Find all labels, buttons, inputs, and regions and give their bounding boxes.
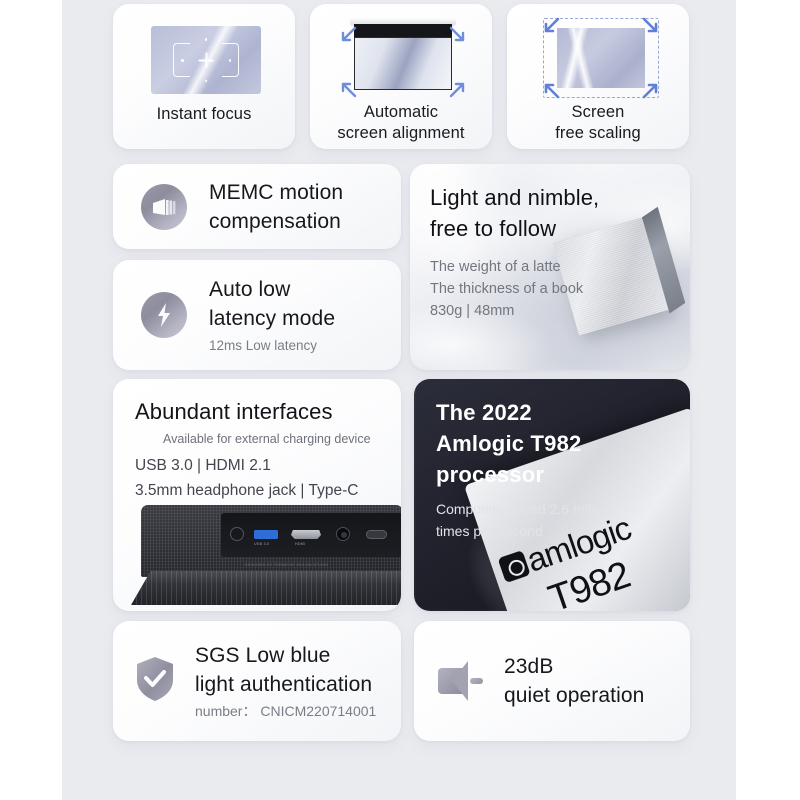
light-nimble-text: Light and nimble, free to follow The wei… <box>410 164 690 322</box>
hdmi-port <box>291 530 321 539</box>
interfaces-spec-line2: 3.5mm headphone jack | Type-C <box>135 478 401 503</box>
tile-caption-line1: Screen <box>507 102 689 123</box>
latency-title-line1: Auto low <box>209 275 335 304</box>
sgs-title-line2: light authentication <box>195 670 376 699</box>
memc-card[interactable]: MEMC motion compensation <box>113 164 401 249</box>
processor-title-line1: The 2022 <box>436 397 690 428</box>
feature-tile-screen-alignment[interactable]: Automatic screen alignment <box>310 4 492 149</box>
processor-subtitle-line1: Computing speed 2.6 trillion <box>436 499 690 520</box>
memc-text: MEMC motion compensation <box>209 178 343 236</box>
product-feature-page: Instant focus Automatic screen alignment… <box>0 0 800 800</box>
power-port <box>230 527 244 541</box>
memc-title-line1: MEMC motion <box>209 178 343 207</box>
shield-check-icon <box>135 656 175 707</box>
feature-tile-free-scaling[interactable]: Screen free scaling <box>507 4 689 149</box>
interfaces-subtitle: Available for external charging device <box>163 429 401 449</box>
film-strip-icon <box>141 184 187 230</box>
nimble-detail-line3: 830g | 48mm <box>430 300 690 322</box>
processor-text: The 2022 Amlogic T982 processor Computin… <box>414 379 690 542</box>
noise-title-line1: 23dB <box>504 652 644 681</box>
interfaces-spec-line1: USB 3.0 | HDMI 2.1 <box>135 453 401 478</box>
nimble-detail-line2: The thickness of a book <box>430 278 690 300</box>
latency-title-line2: latency mode <box>209 304 335 333</box>
processor-card[interactable]: amlogic T982 The 2022 Amlogic T982 proce… <box>414 379 690 611</box>
tile-caption-line2: free scaling <box>507 123 689 144</box>
noise-title-line2: quiet operation <box>504 681 644 710</box>
quiet-operation-card[interactable]: 23dB quiet operation <box>414 621 690 741</box>
nimble-title-line1: Light and nimble, <box>430 182 690 213</box>
headphone-jack-port <box>336 527 350 541</box>
tile-caption-line2: screen alignment <box>310 123 492 144</box>
low-latency-text: Auto low latency mode 12ms Low latency <box>209 275 335 355</box>
processor-title-line3: processor <box>436 459 690 490</box>
focus-frame-icon <box>151 26 261 94</box>
device-ports-photo: USB 3.0 HDMI DESIGNED BY FORMOVIE DESIGN… <box>131 505 401 611</box>
usb-port-label: USB 3.0 <box>254 542 269 546</box>
interfaces-title: Abundant interfaces <box>135 397 401 427</box>
low-latency-card[interactable]: Auto low latency mode 12ms Low latency <box>113 260 401 370</box>
feature-tile-instant-focus[interactable]: Instant focus <box>113 4 295 149</box>
nimble-detail-line1: The weight of a latte <box>430 256 690 278</box>
latency-subtitle: 12ms Low latency <box>209 336 335 355</box>
processor-subtitle-line2: times per second <box>436 521 690 542</box>
free-scaling-icon <box>543 18 659 98</box>
sgs-certification-card[interactable]: SGS Low blue light authentication number… <box>113 621 401 741</box>
type-c-port <box>366 530 387 539</box>
projection-screen-icon <box>344 16 462 100</box>
io-port-panel: USB 3.0 HDMI <box>221 513 401 557</box>
sgs-certificate-number: number： CNICM220714001 <box>195 702 376 721</box>
usb-port <box>254 530 278 539</box>
quiet-text: 23dB quiet operation <box>504 652 644 710</box>
speaker-mute-icon <box>438 661 482 701</box>
abundant-interfaces-card[interactable]: Abundant interfaces Available for extern… <box>113 379 401 611</box>
interfaces-text: Abundant interfaces Available for extern… <box>113 379 401 503</box>
light-nimble-card[interactable]: Light and nimble, free to follow The wei… <box>410 164 690 370</box>
processor-title-line2: Amlogic T982 <box>436 428 690 459</box>
device-stamp-text: DESIGNED BY FORMOVIE DESIGN STUDIO <box>245 563 328 567</box>
lightning-bolt-icon <box>141 292 187 338</box>
sgs-title-line1: SGS Low blue <box>195 641 376 670</box>
memc-title-line2: compensation <box>209 207 343 236</box>
hdmi-port-label: HDMI <box>295 542 305 546</box>
nimble-title-line2: free to follow <box>430 213 690 244</box>
sgs-text: SGS Low blue light authentication number… <box>195 641 376 721</box>
tile-caption-line1: Automatic <box>310 102 492 123</box>
tile-caption-line1: Instant focus <box>113 104 295 125</box>
